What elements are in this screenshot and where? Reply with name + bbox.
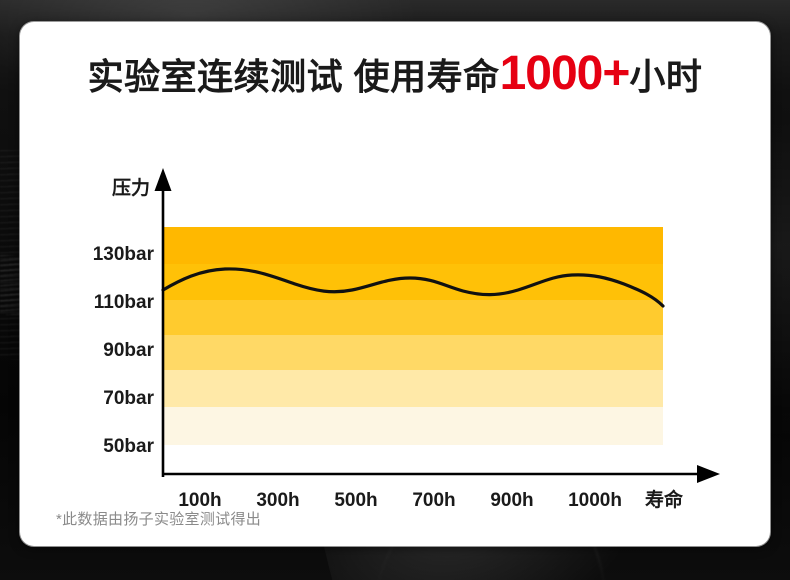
- x-axis-arrow-icon: [697, 465, 720, 483]
- x-tick-label-700h: 700h: [412, 490, 455, 511]
- y-tick-label-90bar: 90bar: [103, 340, 154, 361]
- y-tick-label-110bar: 110bar: [94, 292, 155, 313]
- band-6: [163, 407, 663, 445]
- y-axis-arrow-icon: [155, 168, 172, 191]
- x-axis: [163, 465, 720, 483]
- band-3: [163, 300, 663, 335]
- x-tick-label-500h: 500h: [334, 490, 377, 511]
- y-tick-label-50bar: 50bar: [103, 436, 154, 457]
- band-4: [163, 335, 663, 370]
- band-1: [163, 227, 663, 264]
- x-axis-title: 寿命: [645, 488, 684, 511]
- content-card: 实验室连续测试 使用寿命1000+小时: [20, 22, 770, 546]
- band-5: [163, 370, 663, 407]
- footnote-text: *此数据由扬子实验室测试得出: [56, 508, 261, 529]
- y-tick-label-70bar: 70bar: [103, 388, 154, 409]
- pressure-lifespan-chart: 压力 130bar 110bar 90bar 70bar 50bar 100h …: [20, 22, 770, 546]
- chart-background-bands: [163, 227, 663, 445]
- x-tick-label-1000h: 1000h: [568, 490, 622, 511]
- y-tick-label-130bar: 130bar: [93, 244, 155, 265]
- screenshot-root: 实验室连续测试 使用寿命1000+小时: [0, 0, 790, 580]
- x-tick-label-900h: 900h: [490, 490, 533, 511]
- x-tick-label-300h: 300h: [256, 490, 299, 511]
- y-axis-title: 压力: [112, 176, 150, 199]
